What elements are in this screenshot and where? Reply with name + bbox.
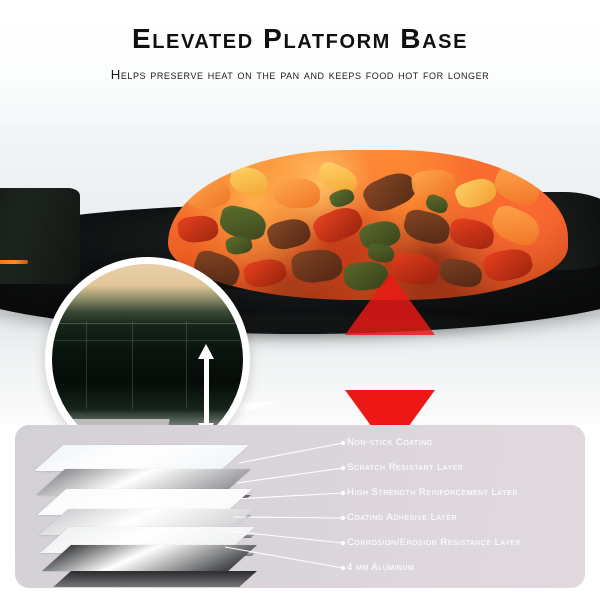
- food-piece: [448, 217, 496, 252]
- food-piece: [225, 234, 254, 257]
- food-piece: [367, 242, 395, 263]
- page-title: Elevated Platform Base: [0, 22, 600, 56]
- leader-endpoint-dot: [341, 516, 345, 520]
- leader-line: [229, 531, 343, 543]
- layer-label: Non-stick Coating: [347, 437, 433, 448]
- red-triangle-up-icon: [345, 273, 435, 335]
- food-piece: [481, 245, 535, 285]
- layer-label-list: Non-stick CoatingScratch Resistant Layer…: [347, 425, 585, 588]
- leader-endpoint-dot: [341, 441, 345, 445]
- closeup-grid-line: [86, 321, 87, 409]
- leader-line: [233, 517, 343, 518]
- product-photo: [0, 118, 600, 425]
- food-piece: [242, 256, 289, 291]
- leader-line: [239, 443, 343, 463]
- layer-construction-panel: Non-stick CoatingScratch Resistant Layer…: [15, 425, 585, 588]
- leader-endpoint-dot: [341, 541, 345, 545]
- leader-endpoint-dot: [341, 566, 345, 570]
- closeup-grid-line: [186, 321, 187, 409]
- infographic-page: Elevated Platform Base Helps preserve he…: [0, 0, 600, 600]
- red-triangle-down-icon: [345, 390, 435, 425]
- leader-line: [237, 468, 343, 483]
- page-subtitle: Helps preserve heat on the pan and keeps…: [0, 66, 600, 83]
- food-piece: [490, 164, 544, 210]
- food-piece: [401, 207, 453, 247]
- food-piece: [438, 257, 484, 289]
- food-piece: [274, 178, 321, 209]
- leader-line: [235, 493, 343, 499]
- food-piece: [177, 214, 220, 245]
- layer-label: High Strength Reinforcement Layer: [347, 487, 518, 498]
- layer-label: Coating Adhesive Layer: [347, 512, 457, 523]
- food-piece: [310, 202, 366, 248]
- closeup-seam-line: [52, 323, 243, 324]
- closeup-grid-line: [132, 321, 133, 409]
- food-piece: [290, 247, 344, 285]
- pan-handle-left: [0, 188, 80, 284]
- pan-handle-accent-stripe: [0, 260, 28, 264]
- food-piece: [488, 202, 545, 250]
- closeup-seam-line: [52, 340, 243, 341]
- base-height-arrow-icon: [198, 344, 214, 425]
- layer-label: Scratch Resistant Layer: [347, 462, 463, 473]
- food-piece: [184, 177, 232, 212]
- arrow-head-down: [198, 423, 214, 425]
- food-piece: [228, 164, 271, 198]
- food-piece: [453, 174, 499, 212]
- arrow-shaft: [204, 357, 209, 425]
- layer-label: Corrosion/Erosion Resistance Layer: [347, 537, 521, 548]
- layer-label: 4 mm Aluminum: [347, 562, 414, 573]
- food-piece: [265, 215, 313, 253]
- leader-endpoint-dot: [341, 466, 345, 470]
- leader-endpoint-dot: [341, 491, 345, 495]
- header-band: Elevated Platform Base Helps preserve he…: [0, 0, 600, 125]
- leader-line: [225, 547, 343, 568]
- closeup-counter-surface: [45, 419, 170, 425]
